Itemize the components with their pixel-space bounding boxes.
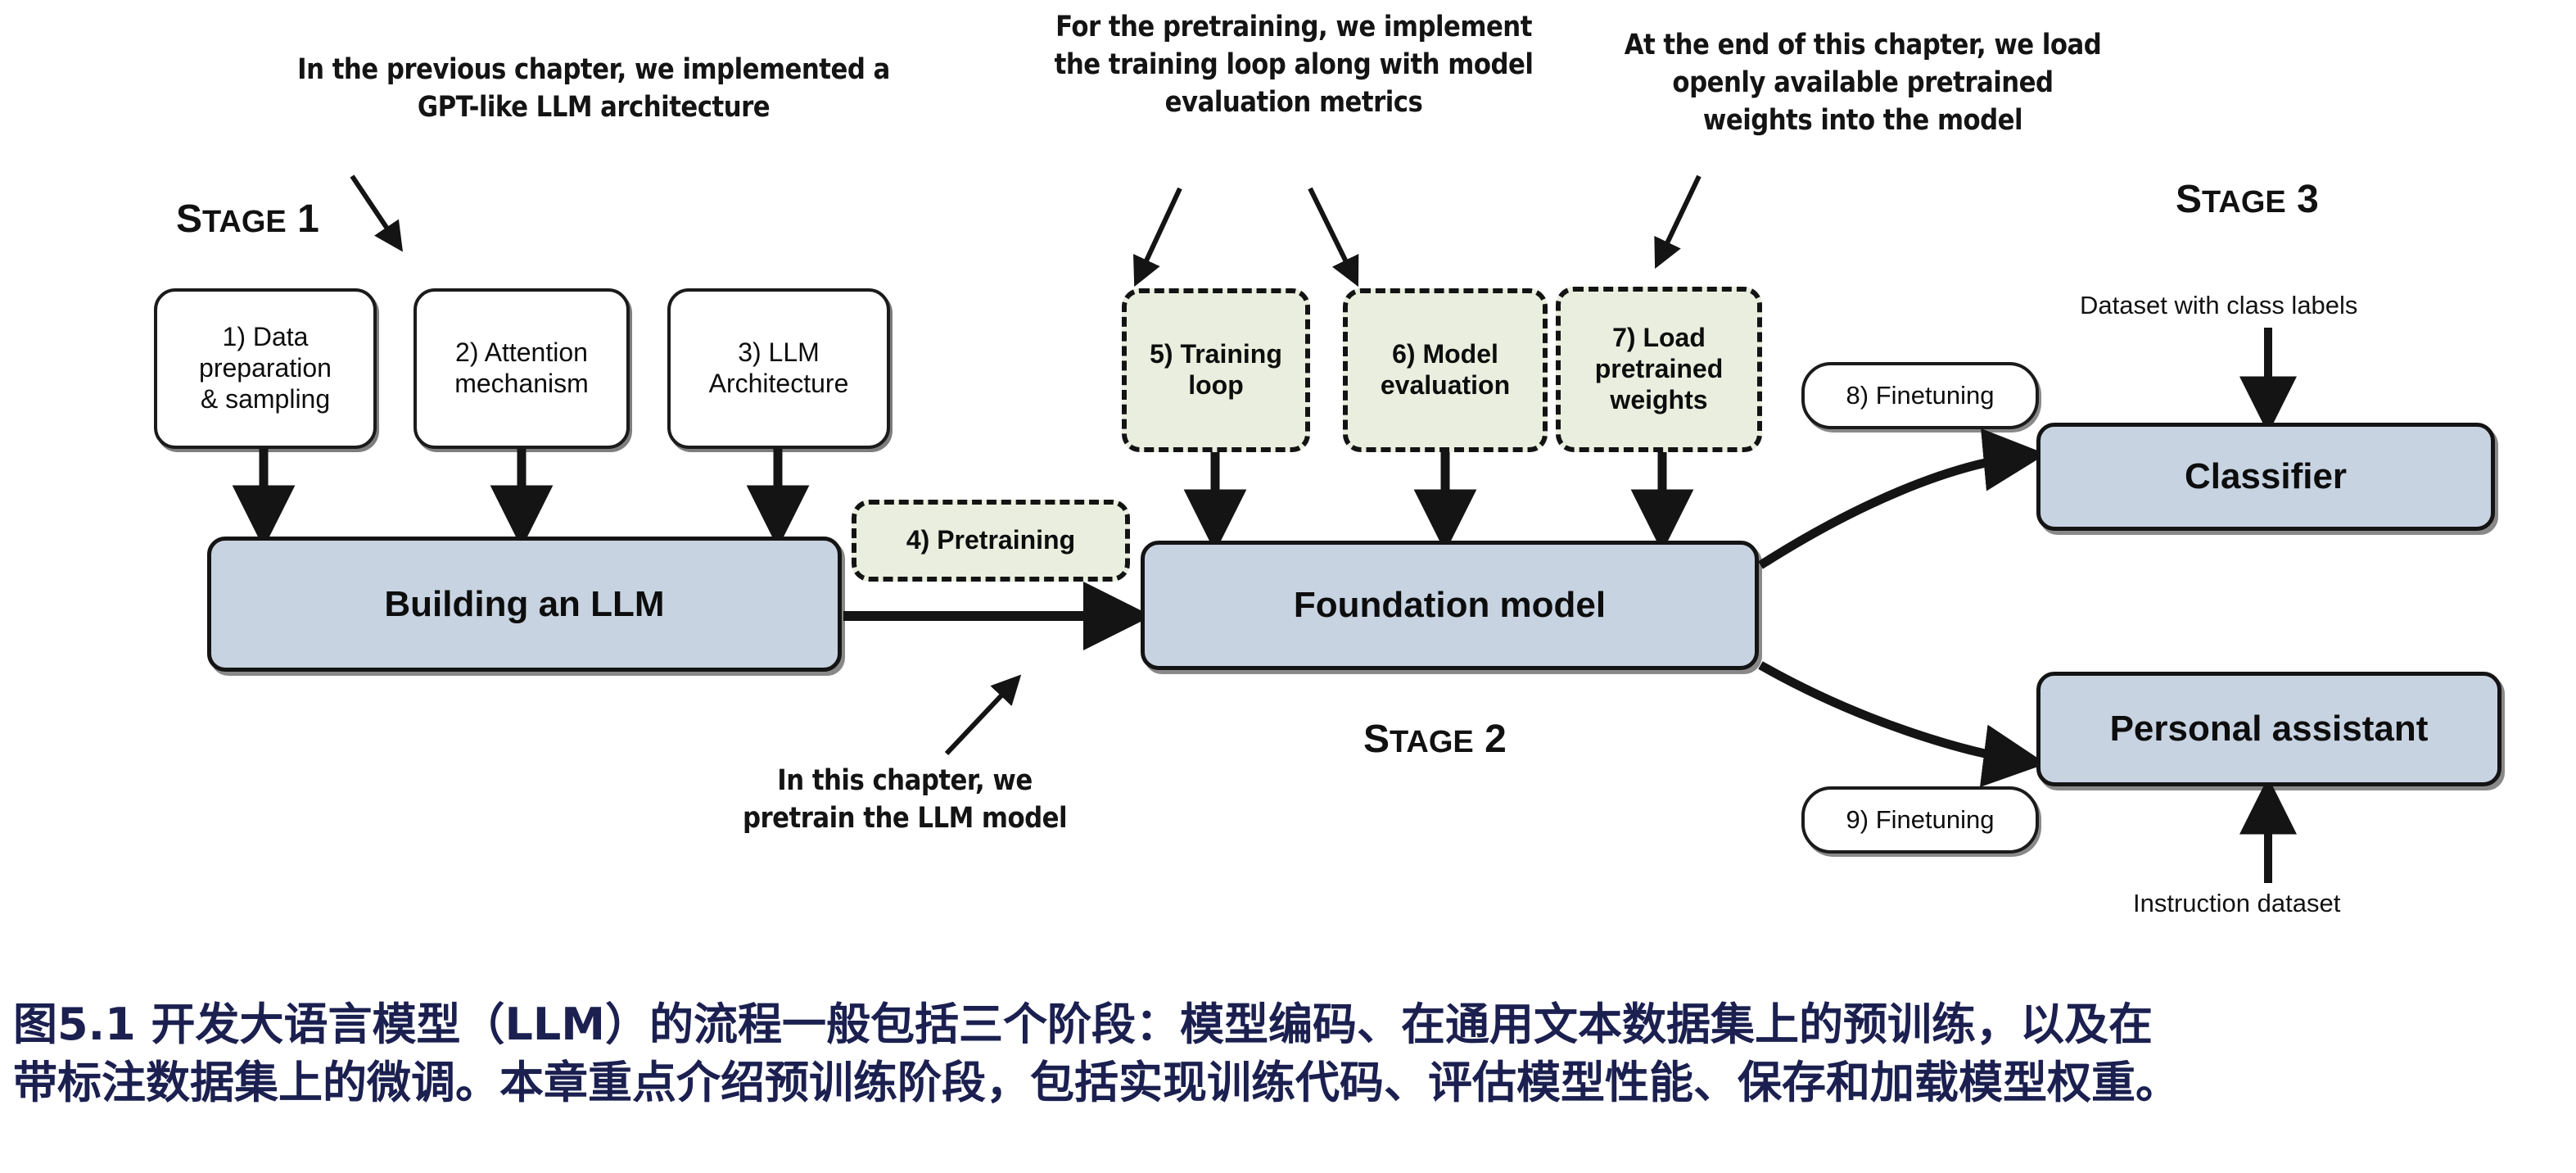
leader-arrow-training-loop (1137, 188, 1180, 280)
box-model-evaluation-line1: 6) Model (1381, 339, 1510, 370)
stage-label-3-rest: TAGE (2202, 185, 2286, 220)
leader-arrow-previous-chapter (352, 176, 399, 246)
figure-caption-line1: 图5.1 开发大语言模型（LLM）的流程一般包括三个阶段：模型编码、在通用文本数… (13, 995, 2568, 1053)
stage-label-2-prefix: S (1363, 718, 1390, 761)
box-personal-assistant[interactable]: Personal assistant (2036, 672, 2501, 786)
box-model-evaluation-line2: evaluation (1381, 370, 1510, 401)
box-building-an-llm[interactable]: Building an LLM (207, 537, 842, 672)
box-data-preparation[interactable]: 1) Data preparation & sampling (154, 288, 377, 449)
box-attention-mechanism[interactable]: 2) Attention mechanism (414, 288, 630, 449)
stage-label-2-rest: TAGE (1390, 725, 1474, 759)
stage-label-2: STAGE 2 (1363, 717, 1507, 762)
box-training-loop[interactable]: 5) Training loop (1122, 288, 1310, 452)
box-data-preparation-line2: preparation (199, 353, 332, 384)
box-load-pretrained-weights-line1: 7) Load (1595, 323, 1723, 354)
leader-arrow-this-chapter (947, 680, 1016, 754)
box-building-an-llm-label: Building an LLM (384, 583, 664, 626)
annot-load-weights: At the end of this chapter, we load open… (1614, 26, 2111, 140)
annot-pretraining-loop: For the pretraining, we implement the tr… (1042, 8, 1546, 122)
box-llm-architecture[interactable]: 3) LLM Architecture (667, 288, 890, 449)
box-classifier-label: Classifier (2185, 455, 2347, 498)
arrow-foundation-to-assistant (1760, 665, 2031, 762)
leader-arrow-load-weights (1658, 176, 1699, 262)
box-personal-assistant-label: Personal assistant (2110, 708, 2429, 750)
stage-label-3-prefix: S (2176, 178, 2202, 221)
stage-label-3: STAGE 3 (2176, 177, 2319, 222)
box-load-pretrained-weights-line2: pretrained (1595, 354, 1723, 385)
label-dataset-class-labels: Dataset with class labels (2080, 291, 2357, 320)
box-model-evaluation[interactable]: 6) Model evaluation (1343, 288, 1548, 452)
box-data-preparation-line1: 1) Data (199, 322, 332, 353)
figure-caption: 图5.1 开发大语言模型（LLM）的流程一般包括三个阶段：模型编码、在通用文本数… (13, 995, 2568, 1112)
box-classifier[interactable]: Classifier (2036, 423, 2495, 531)
arrow-foundation-to-classifier (1760, 455, 2031, 565)
box-load-pretrained-weights[interactable]: 7) Load pretrained weights (1556, 287, 1762, 452)
box-training-loop-line2: loop (1150, 370, 1282, 401)
annot-previous-chapter: In the previous chapter, we implemented … (291, 51, 896, 126)
stage-label-1-num: 1 (287, 197, 319, 241)
stage-label-1-rest: TAGE (202, 205, 287, 239)
box-llm-architecture-line1: 3) LLM (709, 337, 849, 369)
figure-canvas: In the previous chapter, we implemented … (0, 0, 2576, 1173)
pill-finetuning-9[interactable]: 9) Finetuning (1801, 786, 2039, 854)
box-load-pretrained-weights-line3: weights (1595, 385, 1723, 416)
pill-finetuning-8[interactable]: 8) Finetuning (1801, 362, 2039, 429)
box-attention-mechanism-line2: mechanism (454, 369, 589, 400)
annot-this-chapter: In this chapter, we pretrain the LLM mod… (732, 762, 1078, 837)
box-attention-mechanism-line1: 2) Attention (454, 337, 589, 369)
label-instruction-dataset: Instruction dataset (2133, 889, 2340, 918)
box-foundation-model-label: Foundation model (1294, 584, 1606, 627)
box-pretraining-label: 4) Pretraining (906, 525, 1075, 556)
pill-finetuning-8-label: 8) Finetuning (1846, 381, 1995, 411)
box-training-loop-line1: 5) Training (1150, 339, 1282, 370)
stage-label-3-num: 3 (2286, 178, 2319, 221)
stage-label-2-num: 2 (1474, 718, 1507, 761)
box-data-preparation-line3: & sampling (199, 384, 332, 415)
pill-finetuning-9-label: 9) Finetuning (1846, 805, 1995, 836)
box-pretraining[interactable]: 4) Pretraining (852, 500, 1130, 582)
box-foundation-model[interactable]: Foundation model (1141, 541, 1759, 670)
stage-label-1-prefix: S (176, 197, 202, 241)
figure-caption-line2: 带标注数据集上的微调。本章重点介绍预训练阶段，包括实现训练代码、评估模型性能、保… (13, 1053, 2568, 1112)
stage-label-1: STAGE 1 (176, 197, 319, 242)
leader-arrow-model-evaluation (1310, 188, 1355, 280)
box-llm-architecture-line2: Architecture (709, 369, 849, 400)
